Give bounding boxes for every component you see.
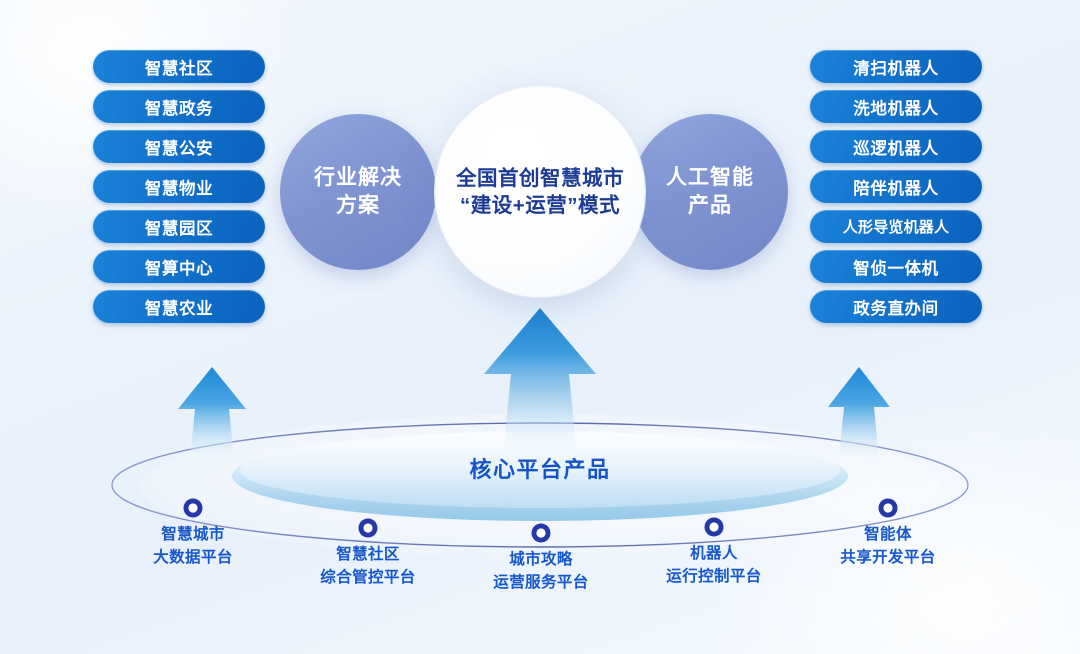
pill-computing-center[interactable]: 智算中心: [93, 250, 265, 283]
node-label-line1: 城市攻略: [493, 548, 588, 571]
ring-node[interactable]: [532, 524, 551, 543]
pill-floor-washing-robot[interactable]: 洗地机器人: [810, 90, 982, 123]
circle-right-line2: 产品: [666, 192, 754, 220]
pill-government-service-room[interactable]: 政务直办间: [810, 290, 982, 323]
node-label-agent-dev-platform[interactable]: 智能体 共享开发平台: [840, 523, 935, 570]
circle-ai-products[interactable]: 人工智能 产品: [632, 114, 788, 270]
center-title-line1: 全国首创智慧城市: [456, 165, 624, 192]
pill-cleaning-robot[interactable]: 清扫机器人: [810, 50, 982, 83]
circle-left-line2: 方案: [314, 192, 402, 220]
pill-smart-agriculture[interactable]: 智慧农业: [93, 290, 265, 323]
pill-smart-property[interactable]: 智慧物业: [93, 170, 265, 203]
left-pill-column: 智慧社区 智慧政务 智慧公安 智慧物业 智慧园区 智算中心 智慧农业: [93, 50, 265, 323]
pill-smart-government[interactable]: 智慧政务: [93, 90, 265, 123]
circle-left-line1: 行业解决: [314, 164, 402, 192]
center-title-line2: “建设+运营”模式: [456, 192, 624, 219]
pill-smart-park[interactable]: 智慧园区: [93, 210, 265, 243]
pill-smart-public-security[interactable]: 智慧公安: [93, 130, 265, 163]
right-pill-column: 清扫机器人 洗地机器人 巡逻机器人 陪伴机器人 人形导览机器人 智侦一体机 政务…: [810, 50, 982, 323]
circle-core-model[interactable]: 全国首创智慧城市 “建设+运营”模式: [435, 87, 645, 297]
ring-node[interactable]: [184, 499, 203, 518]
ring-node[interactable]: [359, 519, 378, 538]
pill-humanoid-guide-robot[interactable]: 人形导览机器人: [810, 210, 982, 243]
node-label-line2: 综合管控平台: [320, 566, 415, 589]
pill-companion-robot[interactable]: 陪伴机器人: [810, 170, 982, 203]
node-label-line1: 机器人: [666, 542, 761, 565]
node-label-line2: 运行控制平台: [666, 565, 761, 588]
infographic-canvas: 行业解决 方案 人工智能 产品 全国首创智慧城市 “建设+运营”模式 智慧社区 …: [0, 0, 1080, 654]
pill-smart-community[interactable]: 智慧社区: [93, 50, 265, 83]
node-label-community-control-platform[interactable]: 智慧社区 综合管控平台: [320, 543, 415, 590]
pill-patrol-robot[interactable]: 巡逻机器人: [810, 130, 982, 163]
node-label-line2: 共享开发平台: [840, 546, 935, 569]
node-label-line1: 智慧城市: [153, 523, 233, 546]
node-label-line1: 智慧社区: [320, 543, 415, 566]
pill-smart-detection-machine[interactable]: 智侦一体机: [810, 250, 982, 283]
arrow-center: [481, 306, 599, 458]
node-label-line1: 智能体: [840, 523, 935, 546]
node-label-big-data-platform[interactable]: 智慧城市 大数据平台: [153, 523, 233, 570]
ring-node[interactable]: [705, 518, 724, 537]
node-label-city-operation-platform[interactable]: 城市攻略 运营服务平台: [493, 548, 588, 595]
node-label-line2: 大数据平台: [153, 546, 233, 569]
node-label-robot-control-platform[interactable]: 机器人 运行控制平台: [666, 542, 761, 589]
core-platform-label: 核心平台产品: [0, 452, 1080, 484]
circle-industry-solutions[interactable]: 行业解决 方案: [280, 114, 436, 270]
ring-node[interactable]: [879, 499, 898, 518]
circle-right-line1: 人工智能: [666, 164, 754, 192]
node-label-line2: 运营服务平台: [493, 571, 588, 594]
